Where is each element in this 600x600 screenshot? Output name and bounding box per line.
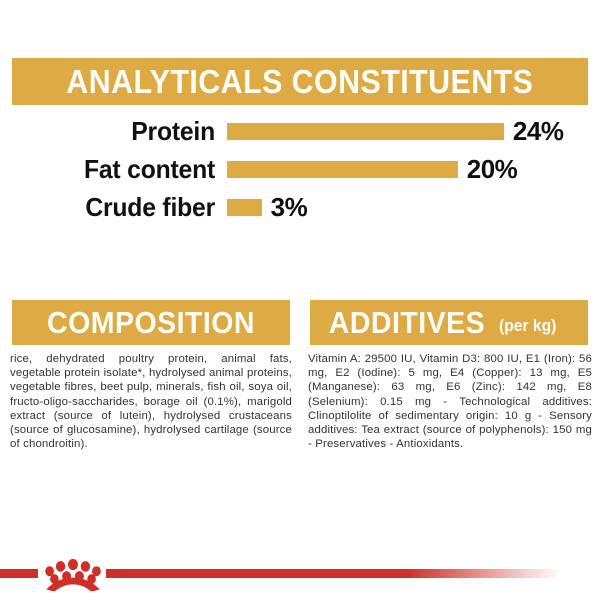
footer-brand-rule (0, 560, 600, 600)
chart-label-fat-content: Fat content (11, 156, 215, 182)
royal-canin-crown-icon (42, 554, 104, 594)
additives-heading: ADDITIVES (329, 305, 485, 341)
composition-heading: COMPOSITION (47, 305, 255, 341)
chart-bar-group-fat-content: 20% (227, 156, 517, 182)
chart-row-protein: Protein 24% (0, 112, 600, 150)
rule-segment-left (0, 569, 38, 578)
additives-text: Vitamin A: 29500 IU, Vitamin D3: 800 IU,… (308, 352, 592, 451)
chart-label-crude-fiber: Crude fiber (11, 194, 215, 220)
chart-bar-crude-fiber (227, 199, 262, 216)
composition-text: rice, dehydrated poultry protein, animal… (10, 352, 292, 451)
analyticals-header-bar: ANALYTICALS CONSTITUENTS (12, 58, 588, 105)
composition-header-bar: COMPOSITION (12, 300, 290, 345)
rule-segment-right (106, 569, 561, 578)
analyticals-chart: Protein 24% Fat content 20% Crude fiber … (0, 112, 600, 226)
chart-row-crude-fiber: Crude fiber 3% (0, 188, 600, 226)
chart-row-fat-content: Fat content 20% (0, 150, 600, 188)
chart-value-protein: 24% (513, 118, 564, 144)
analyticals-heading: ANALYTICALS CONSTITUENTS (66, 63, 533, 101)
chart-bar-group-protein: 24% (227, 118, 563, 144)
chart-value-crude-fiber: 3% (271, 194, 308, 220)
chart-bar-protein (227, 123, 504, 140)
additives-unit-label: (per kg) (499, 316, 556, 336)
chart-label-protein: Protein (11, 118, 215, 144)
nutrition-panel: ANALYTICALS CONSTITUENTS Protein 24% Fat… (0, 0, 600, 600)
chart-value-fat-content: 20% (467, 156, 518, 182)
chart-bar-fat-content (227, 161, 458, 178)
chart-bar-group-crude-fiber: 3% (227, 194, 307, 220)
additives-header-bar: ADDITIVES (per kg) (310, 300, 588, 345)
